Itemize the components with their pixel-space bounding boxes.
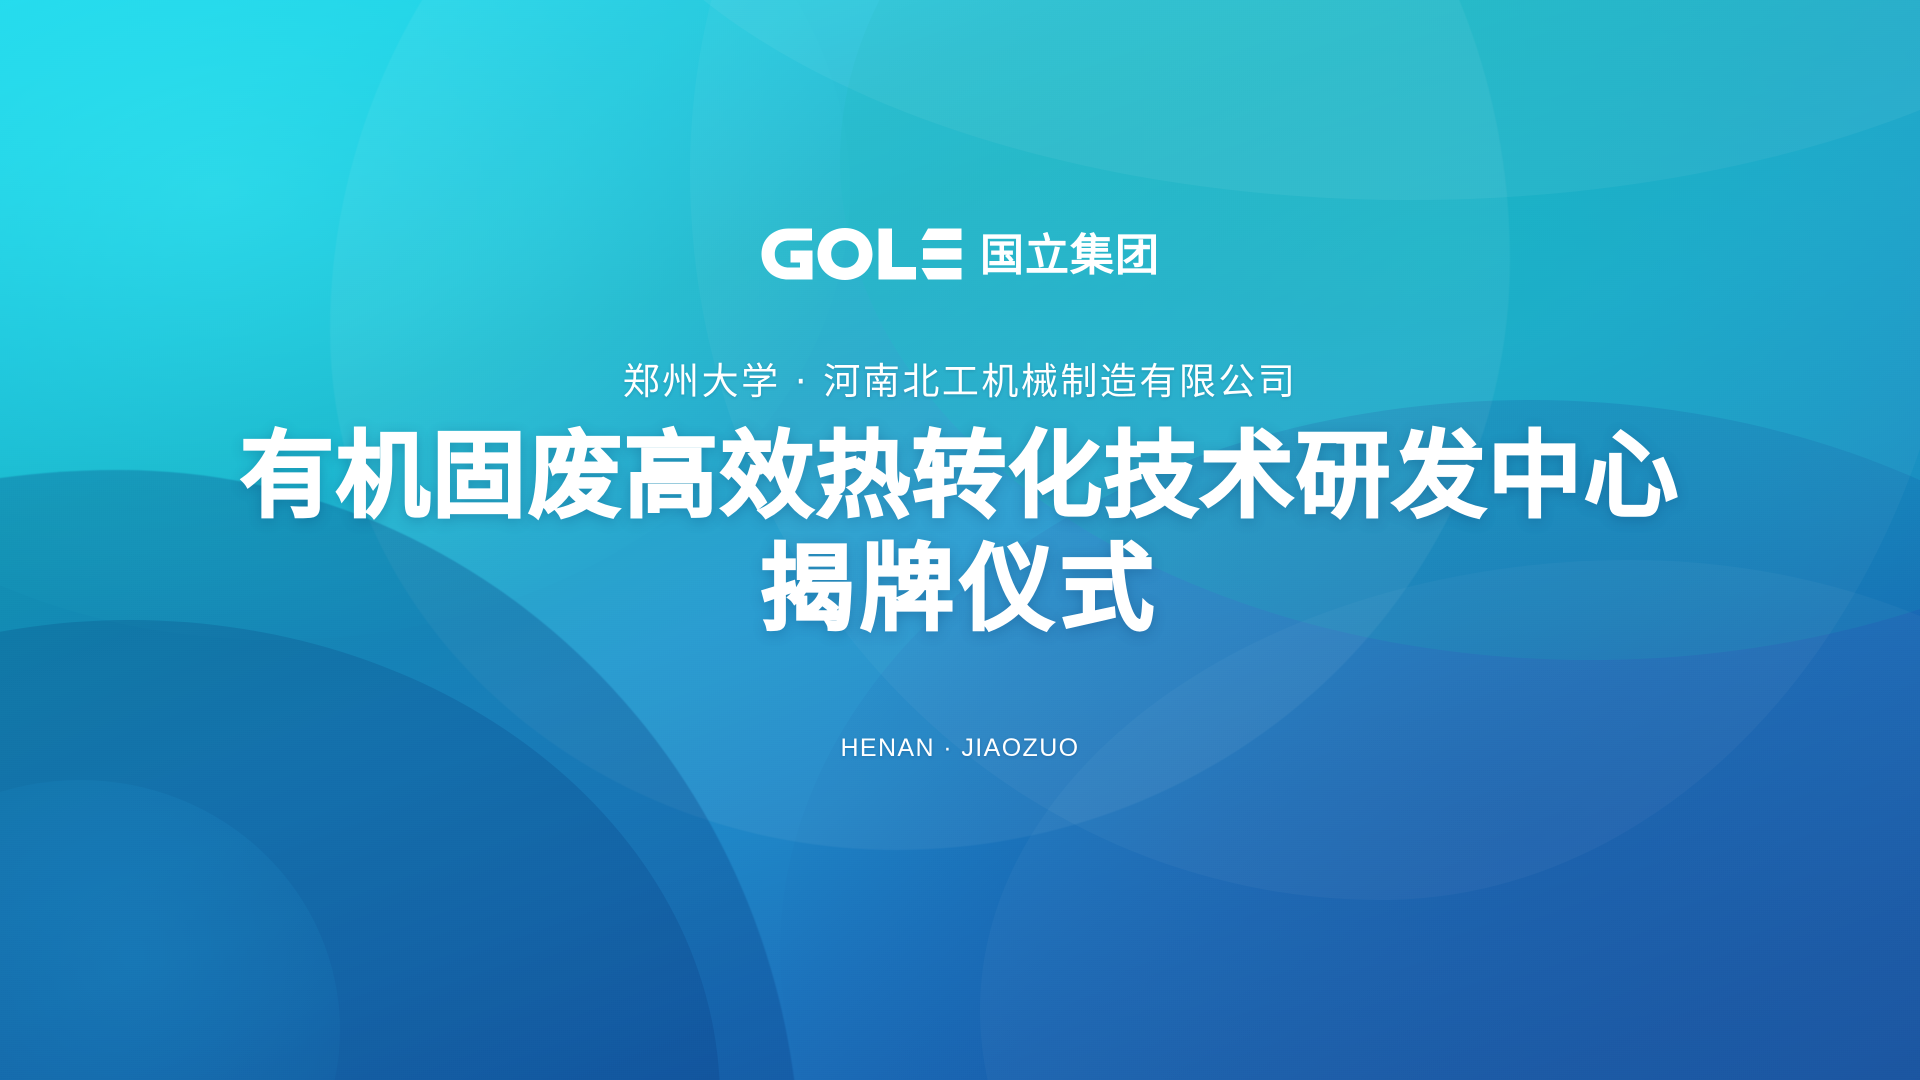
- location-label: HENAN · JIAOZUO: [840, 734, 1079, 763]
- brand-logo-cn-label: 国立集团: [980, 234, 1160, 278]
- title-line-one: 有机固废高效热转化技术研发中心: [240, 422, 1680, 533]
- title-line-two: 揭牌仪式: [240, 533, 1680, 648]
- title-slide: 国立集团 郑州大学 · 河南北工机械制造有限公司 有机固废高效热转化技术研发中心…: [0, 0, 1920, 1080]
- page-title: 有机固废高效热转化技术研发中心 揭牌仪式: [240, 422, 1680, 648]
- gole-wordmark-icon: [760, 228, 962, 285]
- organizations-subtitle: 郑州大学 · 河南北工机械制造有限公司: [623, 360, 1298, 404]
- brand-logo: 国立集团: [760, 228, 1160, 284]
- slide-content: 国立集团 郑州大学 · 河南北工机械制造有限公司 有机固废高效热转化技术研发中心…: [0, 0, 1920, 1080]
